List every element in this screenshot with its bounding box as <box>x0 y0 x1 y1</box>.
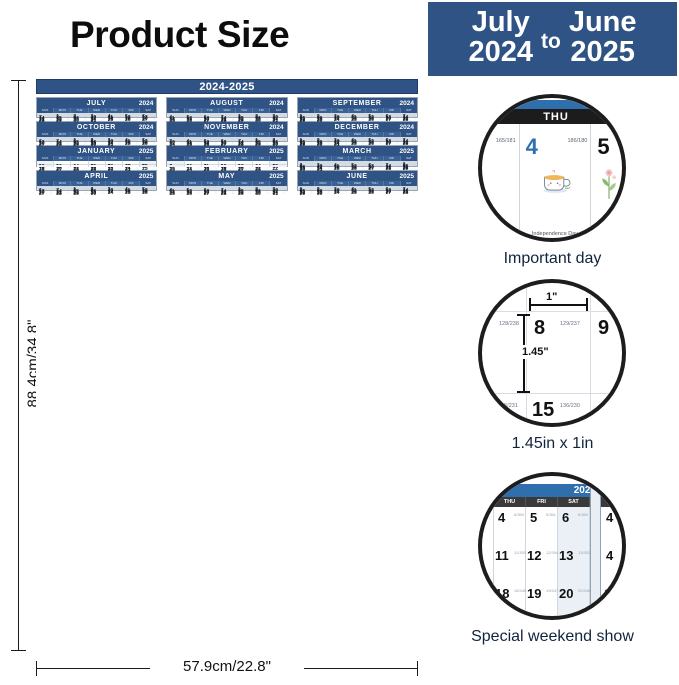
julian-day: ··· <box>396 167 398 170</box>
detail2-height-label: 1.45" <box>520 345 551 359</box>
month-header: DECEMBER2024 <box>298 122 417 132</box>
detail1-caption: Important day <box>428 250 677 268</box>
day-number: 25 <box>351 190 357 196</box>
week-rows: 1···2···3···4···5···6···7···8···9···10··… <box>167 137 286 141</box>
julian-day: ··· <box>50 192 52 195</box>
detail3-r1-fri-julian: 5/361 <box>546 512 556 517</box>
day-number: 27 <box>368 166 374 172</box>
month-year: 2025 <box>269 173 283 180</box>
week-row: 19···20···21···22···23···24···25··· <box>37 164 156 165</box>
detail1-right-day: 5 <box>597 134 609 160</box>
day-number: 26 <box>125 117 131 123</box>
detail3-col-pad <box>478 507 494 620</box>
month-block-november: NOVEMBER2024SUNMONTUEWEDTHUFRISAT1···2··… <box>166 121 287 142</box>
month-year: 2025 <box>269 148 283 155</box>
month-year: 2025 <box>139 173 153 180</box>
week-row: 27···28···29···30··· <box>37 189 156 190</box>
page-title: Product Size <box>70 14 410 56</box>
day-number: 26 <box>204 142 210 148</box>
julian-day: ··· <box>414 167 416 170</box>
detail3-grid: 2024 THU FRI SAT 4 6/360 5 5/361 6 6/360… <box>478 476 626 620</box>
detail2-day-9: 9 <box>598 317 609 340</box>
range-from-year: 2024 <box>468 38 533 68</box>
detail3-r3-next: 11 <box>604 586 618 601</box>
day-number: 26 <box>368 190 374 196</box>
detail1-dow-band-left <box>478 109 520 124</box>
day-number: 26 <box>187 191 193 197</box>
detail1-cell-left: 165/181 <box>478 106 520 242</box>
julian-day: ··· <box>328 192 330 195</box>
month-row: JULY2024SUNMONTUEWEDTHUFRISAT1···2···3··… <box>36 97 418 118</box>
width-guide-cap-right <box>417 661 418 676</box>
day-number: 27 <box>204 191 210 197</box>
julian-day: ··· <box>328 168 330 171</box>
detail2-julian-16: 136/230 <box>560 403 580 409</box>
julian-day: ··· <box>153 166 155 169</box>
month-header: APRIL2025 <box>37 171 156 181</box>
month-block-october: OCTOBER2024SUNMONTUEWEDTHUFRISAT1···2···… <box>36 121 157 142</box>
month-header: AUGUST2024 <box>167 98 286 108</box>
julian-day: ··· <box>136 167 138 170</box>
julian-day: ··· <box>101 167 103 170</box>
julian-day: ··· <box>362 191 364 194</box>
month-name: MARCH <box>301 148 400 155</box>
julian-day: ··· <box>119 118 121 121</box>
julian-day: ··· <box>345 167 347 170</box>
month-header: MAY2025 <box>167 171 286 181</box>
julian-day: ··· <box>283 166 285 169</box>
month-year: 2025 <box>139 148 153 155</box>
month-name: JULY <box>40 100 139 107</box>
height-arrow-cap-bottom <box>517 391 530 393</box>
detail3-r2-fri: 12 <box>527 548 541 563</box>
month-block-june: JUNE2025SUNMONTUEWEDTHUFRISAT1···2···3··… <box>297 170 418 191</box>
julian-day: ··· <box>180 192 182 195</box>
month-header: MARCH2025 <box>298 146 417 156</box>
day-number: 24 <box>334 117 340 123</box>
month-block-march: MARCH2025SUNMONTUEWEDTHUFRISAT1···2···3·… <box>297 145 418 167</box>
day-number: 27 <box>238 167 244 173</box>
month-header: SEPTEMBER2024 <box>298 98 417 108</box>
detail3-r2-next: 4 <box>606 548 613 563</box>
day-number: 27 <box>56 167 62 173</box>
day-number: 31 <box>91 118 97 124</box>
calendar-poster: 2024-2025 JULY2024SUNMONTUEWEDTHUFRISAT1… <box>36 79 418 644</box>
week-row: 26···27···28···29···30···31··· <box>37 165 156 166</box>
week-row: 9···10···11···12···13···14···15··· <box>167 162 286 163</box>
detail3-r3-thu: 18 <box>495 586 509 601</box>
julian-day: ··· <box>84 119 86 122</box>
day-number: 25 <box>125 190 131 196</box>
julian-day: ··· <box>345 191 347 194</box>
poster-year-banner: 2024-2025 <box>36 79 418 94</box>
julian-day: ··· <box>414 142 416 145</box>
detail2-julian-15: 135/231 <box>498 403 518 409</box>
julian-day: ··· <box>414 118 416 121</box>
day-number: 25 <box>334 166 340 172</box>
julian-day: ··· <box>215 143 217 146</box>
day-number: 28 <box>403 141 409 147</box>
day-number: 23 <box>169 167 175 173</box>
julian-day: ··· <box>379 167 381 170</box>
height-guide-cap-bottom <box>11 650 26 651</box>
day-number: 22 <box>272 166 278 172</box>
detail3-r2-thu: 11 <box>495 548 509 563</box>
day-number: 29 <box>56 118 62 124</box>
detail3-r1-thu-julian: 6/360 <box>514 512 524 517</box>
day-number: 28 <box>56 142 62 148</box>
detail3-weekday-row: THU FRI SAT <box>478 497 626 507</box>
julian-day: ··· <box>197 167 199 170</box>
day-number: 24 <box>334 190 340 196</box>
month-header: NOVEMBER2024 <box>167 122 286 132</box>
month-block-july: JULY2024SUNMONTUEWEDTHUFRISAT1···2···3··… <box>36 97 157 118</box>
width-arrow-cap-right <box>586 298 588 311</box>
julian-day: ··· <box>283 143 285 146</box>
detail1-cell-center: 4 186/180 Independence Day <box>520 106 592 242</box>
day-number: 29 <box>300 191 306 197</box>
day-number: 28 <box>403 190 409 196</box>
day-number: 31 <box>108 142 114 148</box>
month-year: 2024 <box>269 124 283 131</box>
week-row: 30···31··· <box>298 165 417 166</box>
month-name: NOVEMBER <box>170 124 269 131</box>
julian-day: ··· <box>362 167 364 170</box>
month-year: 2024 <box>269 100 283 107</box>
julian-day: ··· <box>266 119 268 122</box>
julian-day: ··· <box>396 191 398 194</box>
month-year: 2024 <box>400 124 414 131</box>
julian-day: ··· <box>310 119 312 122</box>
week-row: 24···25···26···27···28···29···30··· <box>167 140 286 141</box>
julian-day: ··· <box>249 192 251 195</box>
month-header: JUNE2025 <box>298 171 417 181</box>
julian-day: ··· <box>266 167 268 170</box>
julian-day: ··· <box>266 192 268 195</box>
julian-day: ··· <box>310 143 312 146</box>
julian-day: ··· <box>310 192 312 195</box>
week-rows: 1···2···3···4···5···6···7···8···9···10··… <box>167 186 286 190</box>
detail3-dow-fri: FRI <box>526 497 558 507</box>
month-block-may: MAY2025SUNMONTUEWEDTHUFRISAT1···2···3···… <box>166 170 287 191</box>
detail1-cell-right: 5 <box>591 106 626 242</box>
range-from: July 2024 <box>468 8 533 67</box>
day-number: 25 <box>142 166 148 172</box>
detail2-day-16: 16 <box>600 399 622 422</box>
day-number: 25 <box>187 142 193 148</box>
day-number: 26 <box>187 118 193 124</box>
day-number: 30 <box>73 118 79 124</box>
detail-circle-2: 8 128/238 9 129/237 15 135/231 16 136/23… <box>478 279 626 427</box>
detail2-caption: 1.45in x 1in <box>428 435 677 453</box>
day-number: 28 <box>386 166 392 172</box>
detail3-r2-sat: 13 <box>559 548 573 563</box>
month-row: OCTOBER2024SUNMONTUEWEDTHUFRISAT1···2···… <box>36 121 418 142</box>
grid-line-v2 <box>590 283 591 427</box>
day-number: 26 <box>142 190 148 196</box>
month-year: 2024 <box>139 100 153 107</box>
day-number: 27 <box>142 117 148 123</box>
month-name: JANUARY <box>40 148 139 155</box>
month-year: 2024 <box>139 124 153 131</box>
grid-line-h2 <box>482 393 626 394</box>
month-year: 2025 <box>400 148 414 155</box>
detail1-left-julian: 165/181 <box>496 138 516 144</box>
week-rows: 1···2···3···4···5···6···7···8···9···10··… <box>298 137 417 141</box>
day-number: 25 <box>351 117 357 123</box>
week-row: 29···30··· <box>298 189 417 190</box>
detail-circle-1: 165/181 4 186/180 Independence Day <box>478 94 626 242</box>
julian-day: ··· <box>119 143 121 146</box>
width-dimension-label: 57.9cm/22.8" <box>150 658 304 675</box>
month-block-january: JANUARY2025SUNMONTUEWEDTHUFRISAT1···2···… <box>36 145 157 167</box>
day-number: 29 <box>403 166 409 172</box>
range-until: June 2025 <box>569 8 637 67</box>
week-rows: 1···2···3···4···5···6···7···8···9···10··… <box>37 113 156 117</box>
day-number: 28 <box>403 117 409 123</box>
julian-day: ··· <box>215 192 217 195</box>
day-number: 26 <box>368 141 374 147</box>
month-block-december: DECEMBER2024SUNMONTUEWEDTHUFRISAT1···2··… <box>297 121 418 142</box>
detail3-r2-fri-julian: 12/354 <box>546 550 558 555</box>
week-row: 29···30··· <box>298 116 417 117</box>
day-number: 26 <box>351 166 357 172</box>
julian-day: ··· <box>283 119 285 122</box>
teacup-icon <box>540 168 574 194</box>
day-number: 30 <box>255 191 261 197</box>
month-header: JANUARY2025 <box>37 146 156 156</box>
month-year: 2024 <box>400 100 414 107</box>
julian-day: ··· <box>283 192 285 195</box>
julian-day: ··· <box>249 167 251 170</box>
day-number: 29 <box>300 118 306 124</box>
month-header: JULY2024 <box>37 98 156 108</box>
julian-day: ··· <box>379 118 381 121</box>
day-number: 25 <box>108 117 114 123</box>
day-number: 26 <box>142 141 148 147</box>
day-number: 31 <box>125 167 131 173</box>
detail3-month-band <box>478 484 626 497</box>
month-name: SEPTEMBER <box>301 100 400 107</box>
day-number: 29 <box>73 191 79 197</box>
month-name: APRIL <box>40 173 139 180</box>
julian-day: ··· <box>50 119 52 122</box>
detail1-center-day: 4 <box>526 134 538 160</box>
day-number: 28 <box>39 118 45 124</box>
day-number: 27 <box>39 142 45 148</box>
week-row: 2···3···4···5···6···7···8··· <box>167 161 286 162</box>
month-name: JUNE <box>301 173 400 180</box>
range-until-year: 2025 <box>569 38 637 68</box>
detail3-r3-sat-julian: 20/346 <box>578 588 590 593</box>
julian-day: ··· <box>67 167 69 170</box>
julian-day: ··· <box>379 191 381 194</box>
detail3-r3-thu-julian: 18/348 <box>514 588 526 593</box>
day-number: 28 <box>56 191 62 197</box>
julian-day: ··· <box>136 142 138 145</box>
week-row: 28···29···30···31··· <box>37 116 156 117</box>
julian-day: ··· <box>50 143 52 146</box>
month-block-september: SEPTEMBER2024SUNMONTUEWEDTHUFRISAT1···2·… <box>297 97 418 118</box>
julian-day: ··· <box>249 119 251 122</box>
julian-day: ··· <box>215 119 217 122</box>
julian-day: ··· <box>180 143 182 146</box>
detail-cell-size: 8 128/238 9 129/237 15 135/231 16 136/23… <box>428 279 677 453</box>
julian-day: ··· <box>84 192 86 195</box>
range-from-month: July <box>468 8 533 38</box>
range-until-month: June <box>569 8 637 38</box>
detail3-r2-sat-julian: 13/353 <box>578 550 590 555</box>
julian-day: ··· <box>101 192 103 195</box>
height-arrow-cap-top <box>517 314 530 316</box>
julian-day: ··· <box>362 118 364 121</box>
day-number: 31 <box>272 118 278 124</box>
detail-important-day: 165/181 4 186/180 Independence Day <box>428 94 677 268</box>
julian-day: ··· <box>396 118 398 121</box>
day-number: 29 <box>255 142 261 148</box>
day-number: 24 <box>169 142 175 148</box>
detail1-holiday-label: Independence Day <box>520 231 591 237</box>
flower-icon <box>597 166 621 200</box>
day-number: 27 <box>39 191 45 197</box>
julian-day: ··· <box>136 191 138 194</box>
detail3-r1-sat: 6 <box>562 510 569 525</box>
julian-day: ··· <box>153 191 155 194</box>
detail1-grid: 165/181 4 186/180 Independence Day <box>478 106 626 242</box>
day-number: 31 <box>317 167 323 173</box>
julian-day: ··· <box>101 143 103 146</box>
julian-day: ··· <box>266 143 268 146</box>
week-rows: 1···2···3···4···5···6···7···8···9···10··… <box>298 186 417 190</box>
day-number: 30 <box>108 167 114 173</box>
day-number: 30 <box>272 142 278 148</box>
detail3-r3-fri-julian: 19/347 <box>546 588 558 593</box>
date-range-banner: July 2024 to June 2025 <box>428 2 677 76</box>
week-row: 23···24···25···26···27···28··· <box>167 165 286 166</box>
day-number: 29 <box>238 191 244 197</box>
month-name: OCTOBER <box>40 124 139 131</box>
week-rows: 1···2···3···4···5···6···7···8···9···10··… <box>167 161 286 166</box>
detail3-dow-pad <box>478 497 494 507</box>
months-grid: JULY2024SUNMONTUEWEDTHUFRISAT1···2···3··… <box>36 97 418 191</box>
day-number: 30 <box>300 167 306 173</box>
detail3-dow-thu: THU <box>494 497 526 507</box>
day-number: 27 <box>386 117 392 123</box>
day-number: 26 <box>39 167 45 173</box>
day-number: 30 <box>317 118 323 124</box>
julian-day: ··· <box>345 143 347 146</box>
day-number: 25 <box>169 118 175 124</box>
month-header: OCTOBER2024 <box>37 122 156 132</box>
day-number: 25 <box>125 141 131 147</box>
day-number: 30 <box>255 118 261 124</box>
julian-day: ··· <box>197 192 199 195</box>
week-rows: 1···2···3···4···5···6···7···8···9···10··… <box>298 161 417 166</box>
week-row: 25···26···27···28···29···30···31··· <box>167 116 286 117</box>
month-header: FEBRUARY2025 <box>167 146 286 156</box>
range-to-label: to <box>541 22 561 54</box>
julian-day: ··· <box>396 142 398 145</box>
julian-day: ··· <box>345 118 347 121</box>
day-number: 24 <box>187 167 193 173</box>
day-number: 29 <box>238 118 244 124</box>
julian-day: ··· <box>67 119 69 122</box>
julian-day: ··· <box>232 192 234 195</box>
detail3-r3-fri: 19 <box>527 586 541 601</box>
day-number: 28 <box>221 118 227 124</box>
day-number: 27 <box>386 141 392 147</box>
julian-day: ··· <box>136 118 138 121</box>
detail2-julian-9: 129/237 <box>560 321 580 327</box>
julian-day: ··· <box>379 142 381 145</box>
detail3-r1-next: 4 <box>606 510 613 525</box>
detail2-width-label: 1" <box>546 291 557 303</box>
julian-day: ··· <box>67 192 69 195</box>
detail3-r1-sat-julian: 6/360 <box>578 512 588 517</box>
julian-day: ··· <box>414 191 416 194</box>
julian-day: ··· <box>197 143 199 146</box>
month-row: APRIL2025SUNMONTUEWEDTHUFRISAT1···2···3·… <box>36 170 418 191</box>
height-guide-line <box>18 80 19 650</box>
detail-special-weekend: 2024 THU FRI SAT 4 6/360 5 5/361 6 6/360… <box>428 472 677 646</box>
week-row: 12···13···14···15···16···17···18··· <box>37 162 156 163</box>
day-number: 29 <box>91 167 97 173</box>
day-number: 30 <box>317 191 323 197</box>
detail2-julian-8: 128/238 <box>499 321 519 327</box>
month-year: 2025 <box>400 173 414 180</box>
week-rows: 1···2···3···4···5···6···7···8···9···10··… <box>37 161 156 166</box>
detail3-caption: Special weekend show <box>428 628 677 646</box>
day-number: 27 <box>204 118 210 124</box>
week-row: 16···17···18···19···20···21···22··· <box>167 164 286 165</box>
detail3-r3-sat: 20 <box>559 586 573 601</box>
julian-day: ··· <box>232 167 234 170</box>
week-row: 5···6···7···8···9···10···11··· <box>37 161 156 162</box>
month-block-february: FEBRUARY2025SUNMONTUEWEDTHUFRISAT1···2··… <box>166 145 287 167</box>
week-rows: 1···2···3···4···5···6···7···8···9···10··… <box>37 186 156 190</box>
julian-day: ··· <box>310 168 312 171</box>
julian-day: ··· <box>197 119 199 122</box>
month-name: FEBRUARY <box>170 148 269 155</box>
detail3-r1-thu: 4 <box>498 510 505 525</box>
julian-day: ··· <box>119 167 121 170</box>
week-row: 25···26···27···28···29···30···31··· <box>167 189 286 190</box>
julian-day: ··· <box>101 119 103 122</box>
day-number: 31 <box>334 142 340 148</box>
julian-day: ··· <box>84 143 86 146</box>
detail-circle-3: 2024 THU FRI SAT 4 6/360 5 5/361 6 6/360… <box>478 472 626 620</box>
week-rows: 1···2···3···4···5···6···7···8···9···10··… <box>37 137 156 141</box>
julian-day: ··· <box>84 167 86 170</box>
julian-day: ··· <box>153 118 155 121</box>
day-number: 28 <box>238 142 244 148</box>
week-rows: 1···2···3···4···5···6···7···8···9···10··… <box>298 113 417 117</box>
julian-day: ··· <box>249 143 251 146</box>
julian-day: ··· <box>362 142 364 145</box>
day-number: 29 <box>73 142 79 148</box>
day-number: 25 <box>204 167 210 173</box>
day-number: 24 <box>108 190 114 196</box>
julian-day: ··· <box>328 119 330 122</box>
day-number: 25 <box>351 141 357 147</box>
detail3-r2-thu-julian: 11/355 <box>514 550 526 555</box>
week-rows: 1···2···3···4···5···6···7···8···9···10··… <box>167 113 286 117</box>
day-number: 29 <box>300 142 306 148</box>
month-row: JANUARY2025SUNMONTUEWEDTHUFRISAT1···2···… <box>36 145 418 167</box>
julian-day: ··· <box>153 142 155 145</box>
detail1-weekday-label: THU <box>520 109 592 124</box>
grid-line-h1 <box>482 311 626 312</box>
